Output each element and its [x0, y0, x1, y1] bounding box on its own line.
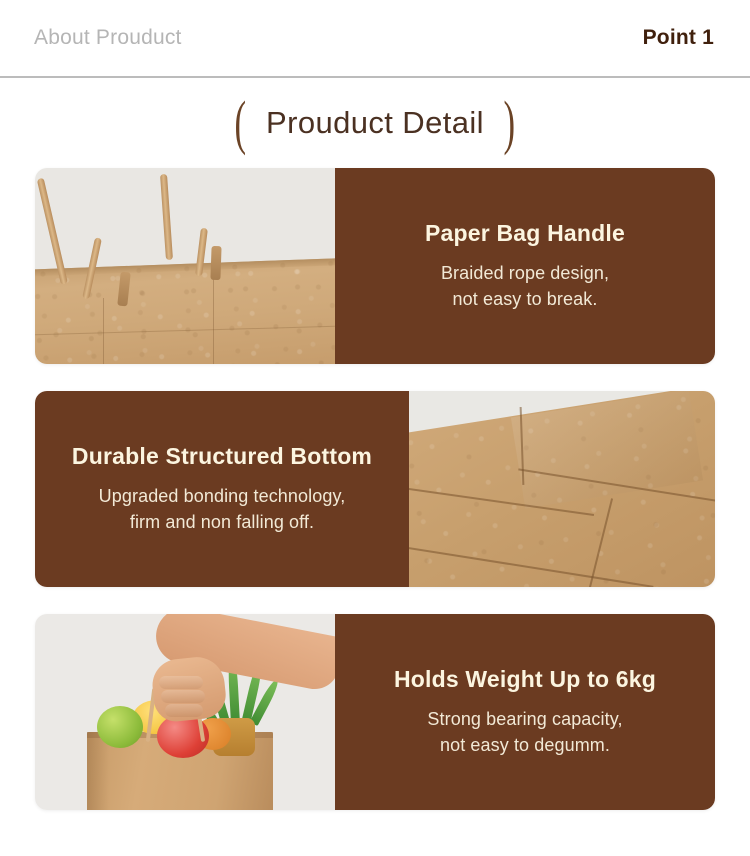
feature-heading: Durable Structured Bottom — [72, 443, 372, 470]
point-number-label: Point 1 — [643, 26, 714, 50]
finger — [165, 704, 203, 717]
rope-knot — [210, 246, 221, 280]
feature-card-list: Paper Bag Handle Braided rope design, no… — [0, 168, 750, 810]
feature-description-line: not easy to break. — [441, 287, 609, 313]
finger — [159, 676, 203, 689]
paper-grain-texture — [35, 258, 335, 364]
bag-fold-line — [213, 272, 214, 364]
right-parenthesis-decoration: ) — [504, 93, 516, 153]
feature-description-line: firm and non falling off. — [99, 510, 346, 536]
braided-rope-handle — [160, 174, 173, 260]
feature-description-line: Upgraded bonding technology, — [99, 484, 346, 510]
bag-bottom-photo — [409, 391, 715, 587]
feature-description: Upgraded bonding technology, firm and no… — [99, 484, 346, 535]
green-apple — [97, 706, 143, 748]
feature-card: Holds Weight Up to 6kg Strong bearing ca… — [35, 614, 715, 810]
feature-text-panel: Paper Bag Handle Braided rope design, no… — [335, 168, 715, 364]
about-product-label: About Prouduct — [34, 26, 182, 50]
paper-bag-handle-photo — [35, 168, 335, 364]
feature-text-panel: Durable Structured Bottom Upgraded bondi… — [35, 391, 409, 587]
feature-description-line: not easy to degumm. — [427, 733, 622, 759]
bag-fold-line — [103, 298, 104, 364]
bag-paper-surface — [35, 258, 335, 364]
feature-description-line: Strong bearing capacity, — [427, 707, 622, 733]
section-title: ( Prouduct Detail ) — [0, 78, 750, 168]
feature-description-line: Braided rope design, — [441, 261, 609, 287]
feature-card: Durable Structured Bottom Upgraded bondi… — [35, 391, 715, 587]
feature-description: Braided rope design, not easy to break. — [441, 261, 609, 312]
feature-description: Strong bearing capacity, not easy to deg… — [427, 707, 622, 758]
hand-holding-fruit-bag-photo — [35, 614, 335, 810]
left-parenthesis-decoration: ( — [235, 93, 247, 153]
feature-card: Paper Bag Handle Braided rope design, no… — [35, 168, 715, 364]
finger — [161, 690, 205, 703]
page-title: Prouduct Detail — [266, 105, 484, 141]
page-header: About Prouduct Point 1 — [0, 0, 750, 78]
feature-heading: Paper Bag Handle — [425, 220, 625, 247]
feature-text-panel: Holds Weight Up to 6kg Strong bearing ca… — [335, 614, 715, 810]
feature-heading: Holds Weight Up to 6kg — [394, 666, 656, 693]
